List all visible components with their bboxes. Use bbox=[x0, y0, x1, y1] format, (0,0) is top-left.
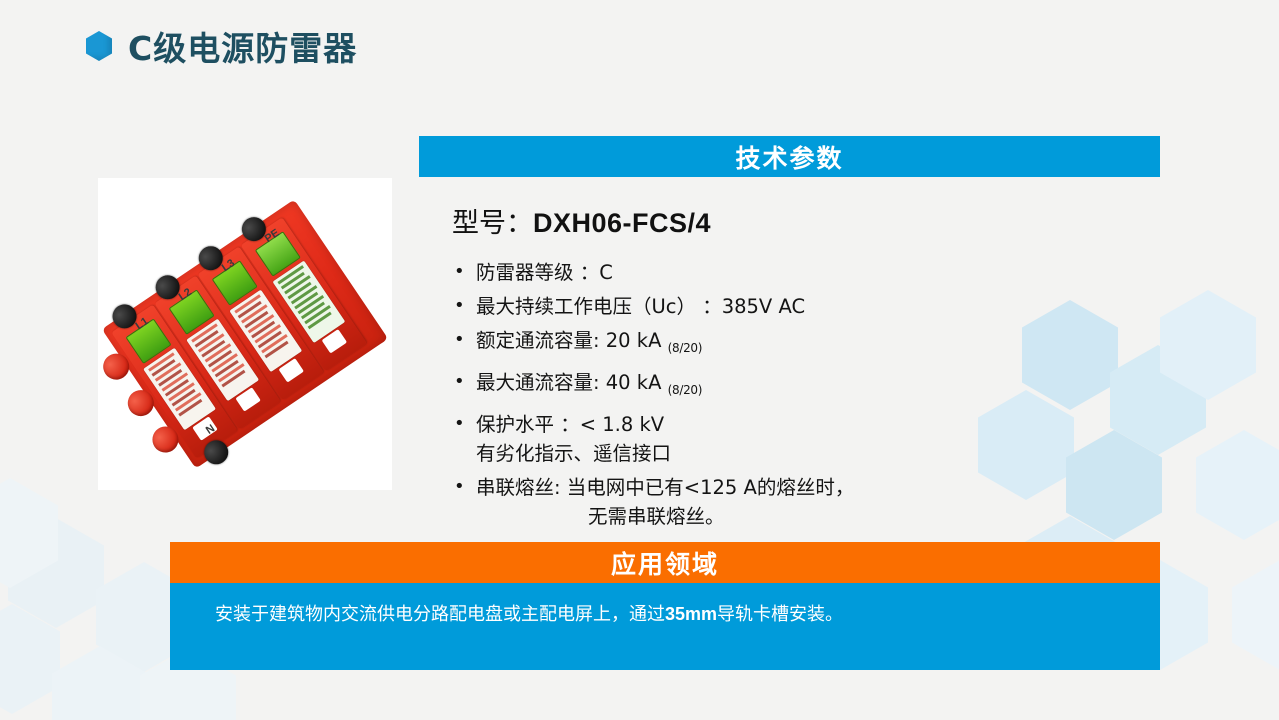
spec-item: 保护水平 ：< 1.8 kV 有劣化指示、遥信接口 bbox=[452, 410, 1092, 468]
spec-item: 最大持续工作电压（Uc） ：385V AC bbox=[452, 292, 1092, 321]
page-title: C级电源防雷器 bbox=[86, 22, 357, 70]
spec-item: 防雷器等级 ：C bbox=[452, 258, 1092, 287]
hexagon-decoration bbox=[1196, 430, 1279, 540]
model-line: 型号：DXH06-FCS/4 bbox=[452, 201, 711, 240]
model-value: DXH06-FCS/4 bbox=[533, 208, 711, 238]
hexagon-bullet-icon bbox=[86, 31, 112, 61]
spec-text: 最大通流容量: 40 kA bbox=[476, 371, 668, 394]
hexagon-decoration bbox=[0, 604, 60, 714]
product-image-canvas: L1 L2 L3 PE N bbox=[98, 178, 392, 490]
spec-text: 保护水平 ：< 1.8 kV bbox=[476, 413, 664, 436]
hexagon-decoration bbox=[8, 518, 104, 628]
application-text-bold: 35mm bbox=[665, 604, 717, 624]
spec-subscript: (8/20) bbox=[668, 341, 703, 355]
application-text-post: 导轨卡槽安装。 bbox=[717, 604, 843, 625]
tech-params-header-text: 技术参数 bbox=[735, 139, 843, 175]
application-body: 安装于建筑物内交流供电分路配电盘或主配电屏上，通过35mm导轨卡槽安装。 bbox=[170, 583, 1160, 670]
spec-item: 额定通流容量: 20 kA (8/20) bbox=[452, 326, 1092, 363]
model-label: 型号： bbox=[452, 208, 533, 239]
spd-device-illustration: L1 L2 L3 PE N bbox=[102, 199, 388, 468]
spec-item: 串联熔丝: 当电网中已有<125 A的熔丝时， 无需串联熔丝。 bbox=[452, 473, 1092, 531]
page-title-text: C级电源防雷器 bbox=[128, 22, 357, 70]
spec-text: 最大持续工作电压（Uc） ：385V AC bbox=[476, 295, 805, 318]
application-header: 应用领域 bbox=[170, 542, 1160, 583]
hexagon-decoration bbox=[0, 478, 58, 588]
spec-text: 额定通流容量: 20 kA bbox=[476, 329, 668, 352]
spec-text: 串联熔丝: 当电网中已有<125 A的熔丝时， bbox=[476, 476, 854, 499]
hexagon-decoration bbox=[1110, 345, 1206, 455]
application-text-pre: 安装于建筑物内交流供电分路配电盘或主配电屏上，通过 bbox=[215, 604, 665, 625]
spec-text-line2: 无需串联熔丝。 bbox=[476, 502, 1092, 531]
hexagon-decoration bbox=[1160, 290, 1256, 400]
spec-text-line2: 有劣化指示、遥信接口 bbox=[476, 439, 1092, 468]
hexagon-decoration bbox=[52, 646, 148, 720]
product-image: L1 L2 L3 PE N bbox=[98, 178, 392, 490]
spec-subscript: (8/20) bbox=[668, 383, 703, 397]
tech-params-header: 技术参数 bbox=[419, 136, 1160, 177]
spec-text: 防雷器等级 ：C bbox=[476, 261, 613, 284]
application-body-text: 安装于建筑物内交流供电分路配电盘或主配电屏上，通过35mm导轨卡槽安装。 bbox=[170, 583, 1160, 626]
spec-item: 最大通流容量: 40 kA (8/20) bbox=[452, 368, 1092, 405]
application-header-text: 应用领域 bbox=[611, 545, 719, 581]
spec-list: 防雷器等级 ：C 最大持续工作电压（Uc） ：385V AC 额定通流容量: 2… bbox=[452, 258, 1092, 536]
slide-root: C级电源防雷器 bbox=[0, 0, 1279, 720]
hexagon-decoration bbox=[1232, 560, 1279, 670]
